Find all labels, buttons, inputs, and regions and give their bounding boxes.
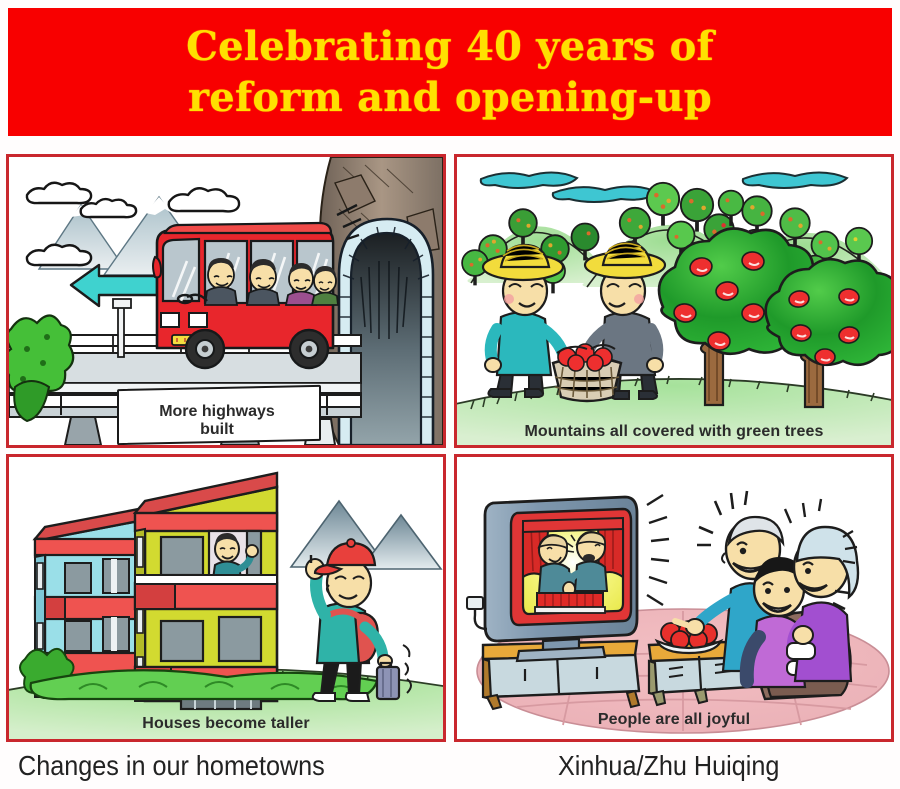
- panel-mountains-green-trees: Mountains all covered with green trees: [454, 154, 894, 448]
- panel-houses-become-taller: Houses become taller: [6, 454, 446, 742]
- panel-grid: More highways built: [6, 154, 894, 742]
- panel-people-are-all-joyful: People are all joyful: [454, 454, 894, 742]
- credit-title: Changes in our hometowns: [18, 750, 325, 782]
- panel-3-artwork: [9, 457, 443, 739]
- red-bus: [153, 205, 361, 368]
- title-banner: Celebrating 40 years of reform and openi…: [8, 8, 892, 136]
- passenger-4: [312, 266, 338, 305]
- panel-4-artwork: [457, 457, 891, 739]
- credit-byline: Xinhua/Zhu Huiqing: [558, 750, 779, 782]
- panel-2-artwork: [457, 157, 891, 445]
- passenger-driver: [205, 258, 237, 305]
- apple-basket: [553, 344, 621, 401]
- panel-1-caption: More highways built: [117, 403, 317, 439]
- panel-more-highways-built: More highways built: [6, 154, 446, 448]
- cartoon-poster: Celebrating 40 years of reform and openi…: [0, 0, 900, 789]
- passenger-2: [247, 259, 279, 305]
- credits-bar: Changes in our hometowns Xinhua/Zhu Huiq…: [0, 748, 900, 789]
- passenger-3: [286, 263, 316, 305]
- banner-title: Celebrating 40 years of reform and openi…: [186, 21, 714, 123]
